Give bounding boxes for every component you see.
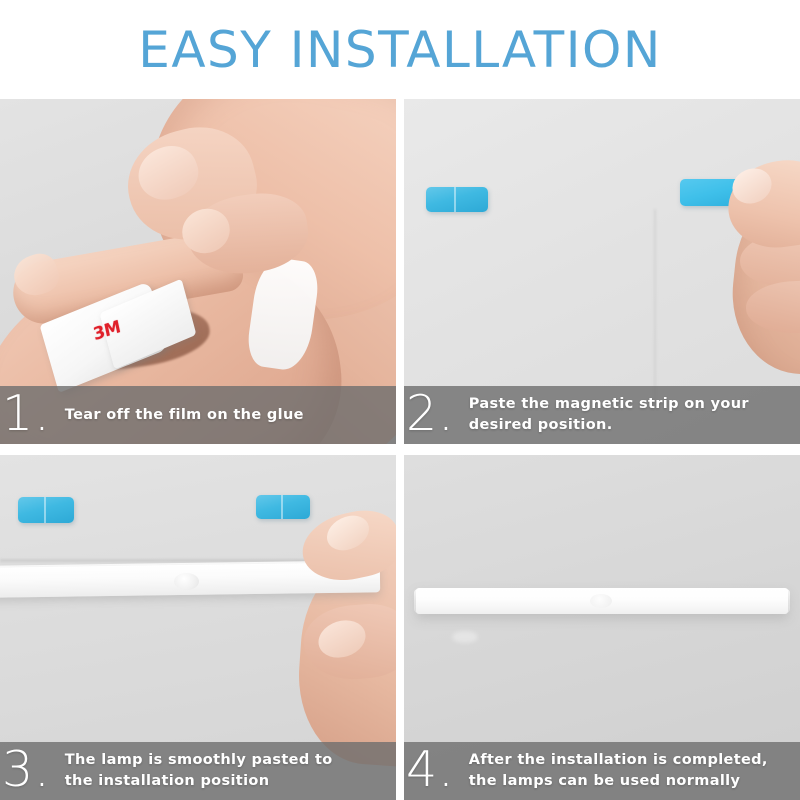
steps-grid: 3M 1. Tear off the film on the glue: [0, 99, 800, 800]
step-4-panel: 4. After the installation is completed, …: [404, 455, 800, 800]
step-2-line-1: Paste the magnetic strip on your: [469, 396, 749, 412]
step-4-caption: 4. After the installation is completed, …: [404, 742, 800, 800]
step-1-text: Tear off the film on the glue: [65, 405, 396, 426]
step-2-caption: 2. Paste the magnetic strip on your desi…: [404, 386, 800, 444]
step-2-line-2: desired position.: [469, 415, 800, 436]
magnetic-strip-right: [256, 495, 310, 519]
step-3-line-2: the installation position: [65, 771, 396, 792]
step-2-text: Paste the magnetic strip on your desired…: [469, 394, 800, 435]
wall-highlight-shape: [452, 631, 478, 643]
step-3-number: 3.: [2, 745, 51, 794]
step-1-number: 1.: [2, 389, 51, 438]
wall-seam-shape: [654, 209, 656, 409]
step-1-panel: 3M 1. Tear off the film on the glue: [0, 99, 396, 444]
step-2-panel: 2. Paste the magnetic strip on your desi…: [404, 99, 800, 444]
step-4-line-1: After the installation is completed,: [469, 752, 768, 768]
step-3-line-1: The lamp is smoothly pasted to: [65, 752, 333, 768]
page-header: EASY INSTALLATION: [0, 0, 800, 99]
easy-installation-infographic: EASY INSTALLATION 3M 1. Tear off the fil…: [0, 0, 800, 800]
step-3-text: The lamp is smoothly pasted to the insta…: [65, 750, 396, 791]
step-4-number: 4.: [406, 745, 455, 794]
strip-seam-line: [44, 497, 46, 523]
step-3-caption: 3. The lamp is smoothly pasted to the in…: [0, 742, 396, 800]
magnetic-strip-left: [18, 497, 74, 523]
strip-seam-line: [454, 187, 456, 212]
page-title: EASY INSTALLATION: [138, 25, 661, 75]
motion-sensor-dome: [590, 594, 612, 608]
motion-sensor-dome: [174, 573, 199, 590]
magnetic-strip-mounted: [426, 187, 488, 212]
step-4-text: After the installation is completed, the…: [469, 750, 800, 791]
step-2-number: 2.: [406, 389, 455, 438]
step-1-caption: 1. Tear off the film on the glue: [0, 386, 396, 444]
strip-seam-line: [281, 495, 283, 519]
step-1-line-1: Tear off the film on the glue: [65, 407, 304, 423]
step-3-panel: 3. The lamp is smoothly pasted to the in…: [0, 455, 396, 800]
step-4-line-2: the lamps can be used normally: [469, 771, 800, 792]
